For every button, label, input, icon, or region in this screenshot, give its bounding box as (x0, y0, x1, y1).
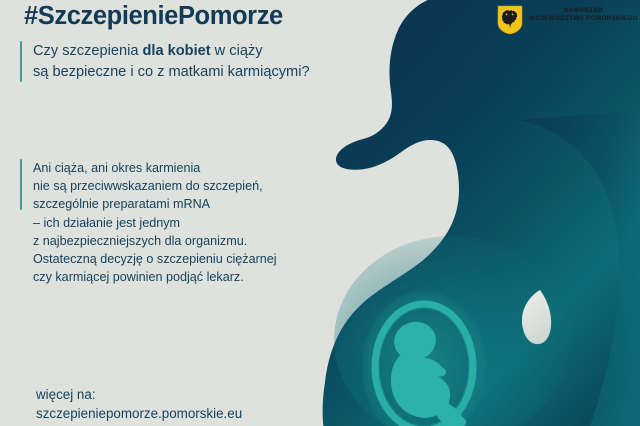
info-block: Ani ciąża, ani okres karmienia nie są pr… (20, 159, 277, 286)
info-line-7: czy karmiącej powinien podjąć lekarz. (33, 268, 277, 286)
samorzad-logo: SAMORZĄD WOJEWÓDZTWA POMORSKIEGO (497, 4, 638, 35)
logo-line-2: WOJEWÓDZTWA POMORSKIEGO (529, 15, 638, 23)
pomorskie-griffin-crest-icon (497, 5, 523, 35)
info-line-3: szczególnie preparatami mRNA (33, 195, 277, 213)
womb-and-fetus (362, 291, 486, 426)
footer-url[interactable]: szczepieniepomorze.pomorskie.eu (36, 404, 242, 423)
silhouette-body (323, 0, 640, 426)
info-line-5: z najbezpieczniejszych dla organizmu. (33, 232, 277, 250)
fetus-figure (390, 317, 468, 426)
info-line-2: nie są przeciwwskazaniem do szczepień, (33, 177, 277, 195)
info-line-6: Ostateczną decyzję o szczepieniu ciężarn… (33, 250, 277, 268)
question-block: Czy szczepienia dla kobiet w ciąży są be… (20, 41, 310, 83)
info-line-1: Ani ciąża, ani okres karmienia (33, 159, 277, 177)
question-lines: Czy szczepienia dla kobiet w ciąży są be… (33, 41, 310, 83)
question-line-1-bold: dla kobiet (143, 43, 211, 59)
question-accent-bar (20, 41, 22, 82)
teardrop-highlight (522, 290, 551, 344)
question-line-1-prefix: Czy szczepienia (33, 43, 143, 59)
question-line-2: są bezpieczne i co z matkami karmiącymi? (33, 62, 310, 83)
poster-root: SAMORZĄD WOJEWÓDZTWA POMORSKIEGO #Szczep… (0, 0, 640, 426)
info-accent-bar (20, 159, 22, 210)
footer-label: więcej na: (36, 385, 242, 404)
question-line-1: Czy szczepienia dla kobiet w ciąży (33, 41, 310, 62)
page-title-hashtag: #SzczepieniePomorze (24, 2, 283, 31)
question-line-1-suffix: w ciąży (211, 43, 263, 59)
logo-line-1: SAMORZĄD (529, 7, 638, 15)
info-line-4: – ich działanie jest jednym (33, 214, 277, 232)
text-content: #SzczepieniePomorze Czy szczepienia dla … (0, 0, 360, 426)
footer-block: więcej na: szczepieniepomorze.pomorskie.… (36, 385, 242, 423)
info-lines: Ani ciąża, ani okres karmienia nie są pr… (33, 159, 277, 286)
